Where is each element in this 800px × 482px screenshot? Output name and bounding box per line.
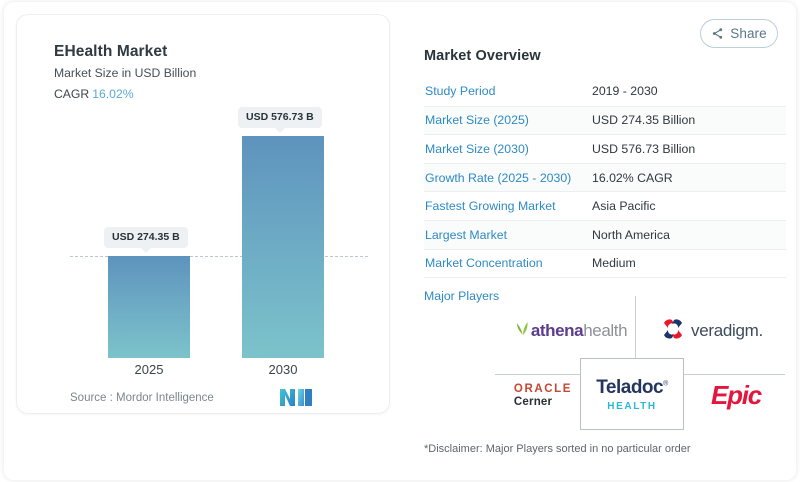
table-row: Market Size (2030) USD 576.73 Billion [424,134,786,163]
bar-label-2025: USD 274.35 B [104,227,188,248]
player-logo-athenahealth-text: athenahealth [531,321,627,341]
row-key: Market Concentration [424,256,592,270]
table-row: Market Concentration Medium [424,249,786,278]
bar-2025[interactable] [108,256,190,358]
table-row: Market Size (2025) USD 274.35 Billion [424,106,786,135]
share-icon [711,27,724,40]
row-key: Largest Market [424,228,592,242]
row-value: Asia Pacific [592,199,786,213]
disclaimer-text: *Disclaimer: Major Players sorted in no … [424,443,691,455]
chart-source: Source : Mordor Intelligence [70,392,214,404]
row-value: 16.02% CAGR [592,171,786,185]
table-row: Fastest Growing Market Asia Pacific [424,191,786,220]
row-key: Market Size (2030) [424,142,592,156]
page-root: Share EHealth Market Market Size in USD … [0,0,800,482]
veradigm-knot-icon [661,317,685,346]
row-value: Medium [592,256,786,270]
row-value: USD 274.35 Billion [592,113,786,127]
cerner-wordmark: Cerner [514,396,572,408]
chart-source-value: Mordor Intelligence [116,392,214,404]
player-logo-veradigm-text: veradigm. [691,321,763,341]
x-axis-label-2025: 2025 [108,362,190,377]
chart-subtitle: Market Size in USD Billion [54,66,196,80]
row-key: Study Period [424,84,592,98]
player-logo-oracle-cerner: ORACLE Cerner [503,374,583,416]
share-button-label: Share [730,26,767,41]
table-row: Growth Rate (2025 - 2030) 16.02% CAGR [424,163,786,192]
chart-cagr-value: 16.02% [92,87,133,101]
row-key: Market Size (2025) [424,113,592,127]
player-logo-athenahealth: athenahealth [503,310,639,352]
player-logo-epic: Epic [691,374,781,416]
oracle-wordmark: ORACLE [514,383,572,395]
major-players-logo-grid: athenahealth veradigm. ORACLE [495,296,785,430]
chart-cagr: CAGR16.02% [54,87,134,101]
bar-chart-plot-area: USD 274.35 B 2025 USD 576.73 B 2030 [16,118,390,358]
market-overview-table: Study Period 2019 - 2030 Market Size (20… [424,77,786,307]
bar-label-2030: USD 576.73 B [238,107,322,128]
row-value: North America [592,228,786,242]
table-row: Study Period 2019 - 2030 [424,77,786,106]
table-row: Largest Market North America [424,220,786,249]
x-axis-label-2030: 2030 [242,362,324,377]
share-button[interactable]: Share [700,19,778,48]
player-logo-teladoc-health: Teladoc® HEALTH [580,358,684,430]
market-overview-panel: Market Overview Study Period 2019 - 2030… [424,48,786,307]
row-key: Fastest Growing Market [424,199,592,213]
teladoc-wordmark: Teladoc® [596,377,668,399]
row-value: USD 576.73 Billion [592,142,786,156]
leaf-icon [515,320,530,342]
chart-title: EHealth Market [54,43,167,61]
market-overview-title: Market Overview [424,48,786,64]
bar-2030[interactable] [242,136,324,358]
chart-cagr-label: CAGR [54,87,89,101]
chart-source-label: Source : [70,392,113,404]
player-logo-veradigm: veradigm. [641,310,783,352]
epic-wordmark: Epic [711,380,761,411]
row-value: 2019 - 2030 [592,84,786,98]
teladoc-health-subtext: HEALTH [607,401,656,412]
row-key: Growth Rate (2025 - 2030) [424,171,592,185]
